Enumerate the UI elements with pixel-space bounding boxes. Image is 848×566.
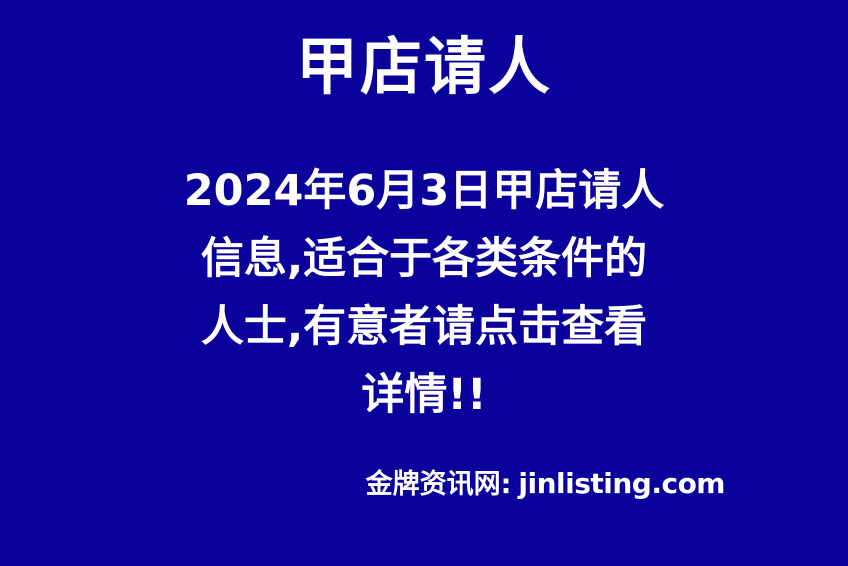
poster-canvas: 甲店请人 2024年6月3日甲店请人 信息,适合于各类条件的 人士,有意者请点击… bbox=[0, 0, 848, 566]
footer-domain-label: jinlisting.com bbox=[518, 467, 725, 500]
body-line-4: 详情!! bbox=[0, 361, 848, 429]
title-text: 甲店请人 bbox=[296, 30, 552, 104]
body-paragraph: 2024年6月3日甲店请人 信息,适合于各类条件的 人士,有意者请点击查看 详情… bbox=[0, 157, 848, 429]
body-line-2: 信息,适合于各类条件的 bbox=[0, 225, 848, 293]
body-line-3: 人士,有意者请点击查看 bbox=[0, 293, 848, 361]
body-line-1: 2024年6月3日甲店请人 bbox=[0, 157, 848, 225]
page-title: 甲店请人 bbox=[0, 30, 848, 104]
footer-watermark: 金牌资讯网:jinlisting.com bbox=[0, 462, 725, 501]
footer-brand-label: 金牌资讯网: bbox=[366, 469, 512, 500]
